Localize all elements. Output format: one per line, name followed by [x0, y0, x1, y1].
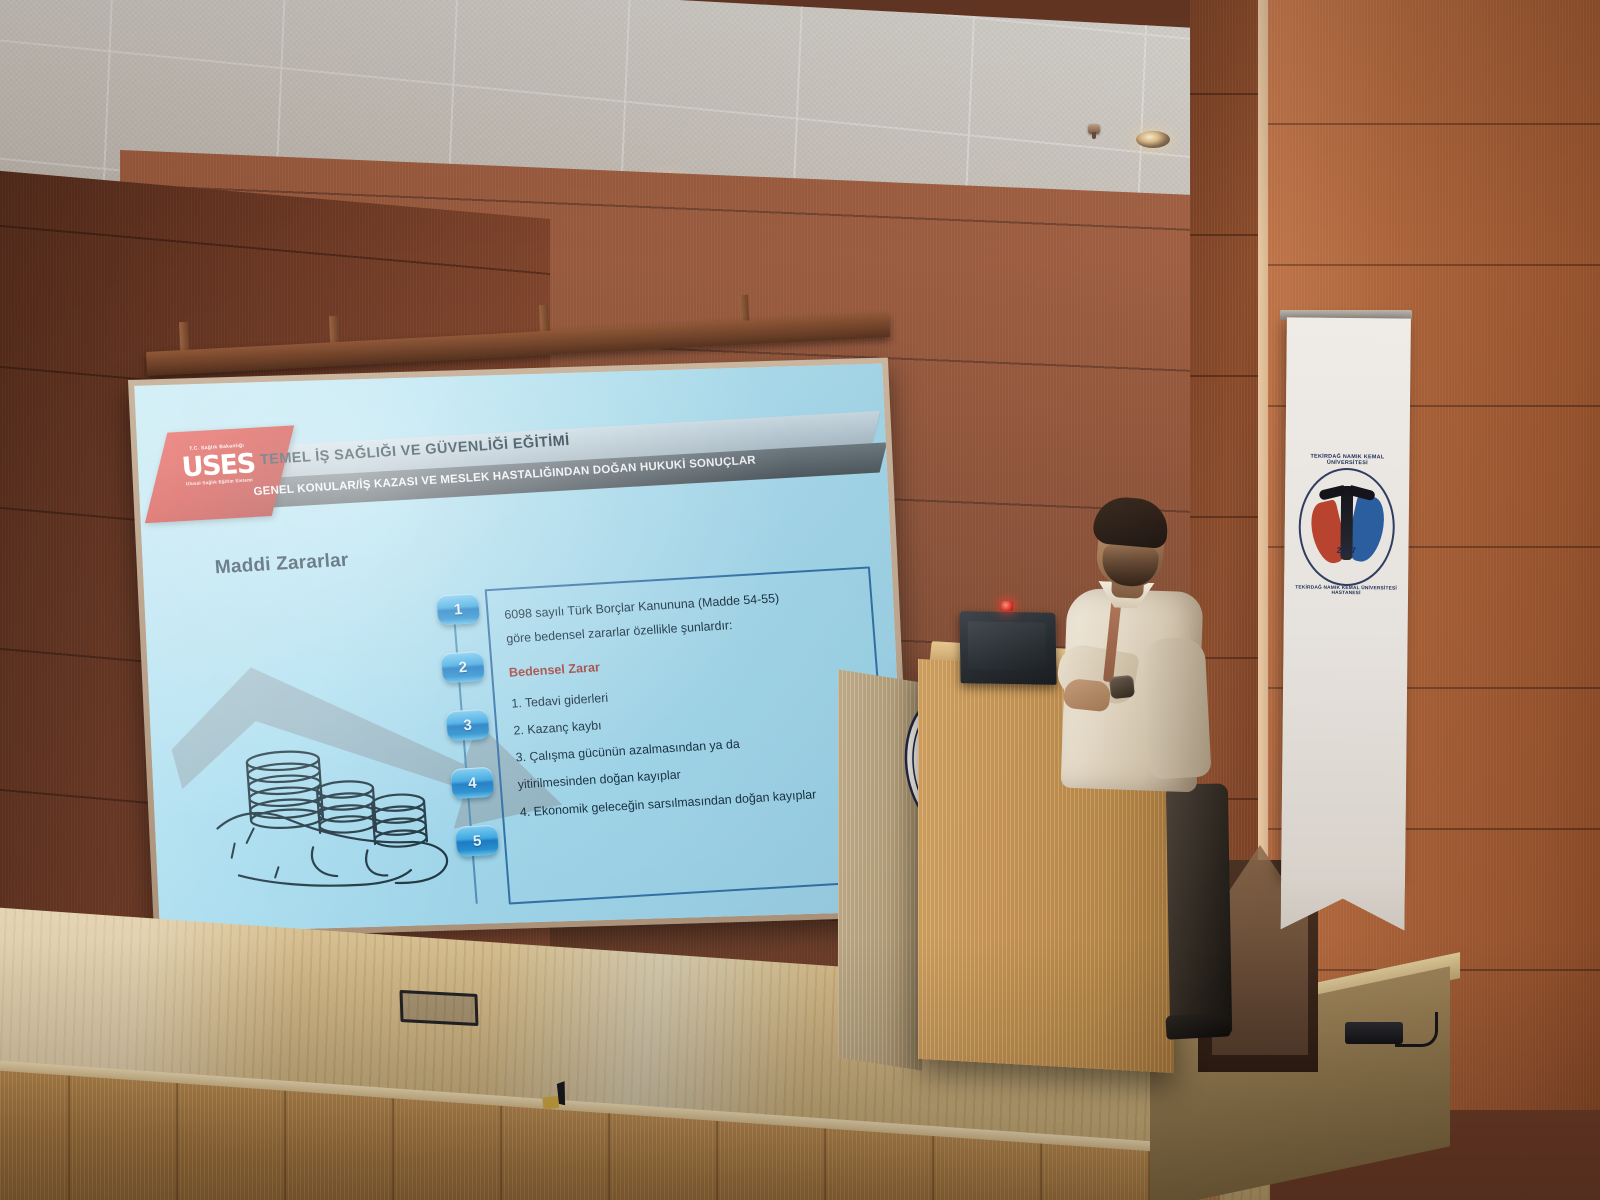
banner-year: 2007: [1298, 546, 1394, 556]
uses-logo-text: T.C. Sağlık Bakanlığı USES Ulusal Sağlık…: [163, 442, 274, 488]
projection-screen: T.C. Sağlık Bakanlığı USES Ulusal Sağlık…: [128, 357, 914, 939]
presenter: [1050, 498, 1240, 1078]
list-step-badge: 3: [446, 709, 490, 741]
list-step-badge: 4: [450, 767, 494, 799]
recessed-downlight-icon: [1136, 131, 1170, 148]
laptop-icon: [959, 611, 1056, 685]
presenter-hand: [1063, 678, 1112, 713]
hand-holding-coins-icon: [208, 713, 470, 906]
page-title: Maddi Zararlar: [214, 550, 349, 580]
banner-bottom-text: TEKİRDAĞ NAMIK KEMAL ÜNİVERSİTESİ HASTAN…: [1292, 585, 1400, 596]
conference-hall-scene: T.C. Sağlık Bakanlığı USES Ulusal Sağlık…: [0, 0, 1600, 1200]
university-banner: TEKİRDAĞ NAMIK KEMAL ÜNİVERSİTESİ 2007 T…: [1281, 317, 1411, 878]
presenter-legs: [1166, 783, 1232, 1034]
presenter-right-arm: [1142, 636, 1211, 779]
presentation-slide: T.C. Sağlık Bakanlığı USES Ulusal Sağlık…: [134, 364, 908, 934]
wristwatch-icon: [1109, 675, 1135, 699]
list-step-badge: 1: [436, 593, 480, 625]
slide-header: T.C. Sağlık Bakanlığı USES Ulusal Sağlık…: [137, 412, 889, 530]
caduceus-emblem-icon: TEKİRDAĞ NAMIK KEMAL ÜNİVERSİTESİ 2007 T…: [1298, 468, 1395, 587]
banner-top-text: TEKİRDAĞ NAMIK KEMAL ÜNİVERSİTESİ: [1299, 454, 1395, 467]
list-step-badge: 5: [455, 825, 499, 857]
stage-small-object: [538, 1076, 575, 1113]
list-step-badge: 2: [441, 651, 485, 683]
cable-loop: [1395, 1012, 1438, 1047]
red-led-indicator-icon: [1001, 601, 1013, 611]
fire-sprinkler-icon: [1088, 124, 1100, 134]
presenter-hair: [1092, 495, 1170, 549]
stage-floor-outlet-icon: [399, 990, 478, 1026]
presenter-shoe: [1165, 1012, 1230, 1039]
screen-surface: T.C. Sağlık Bakanlığı USES Ulusal Sağlık…: [134, 364, 908, 934]
